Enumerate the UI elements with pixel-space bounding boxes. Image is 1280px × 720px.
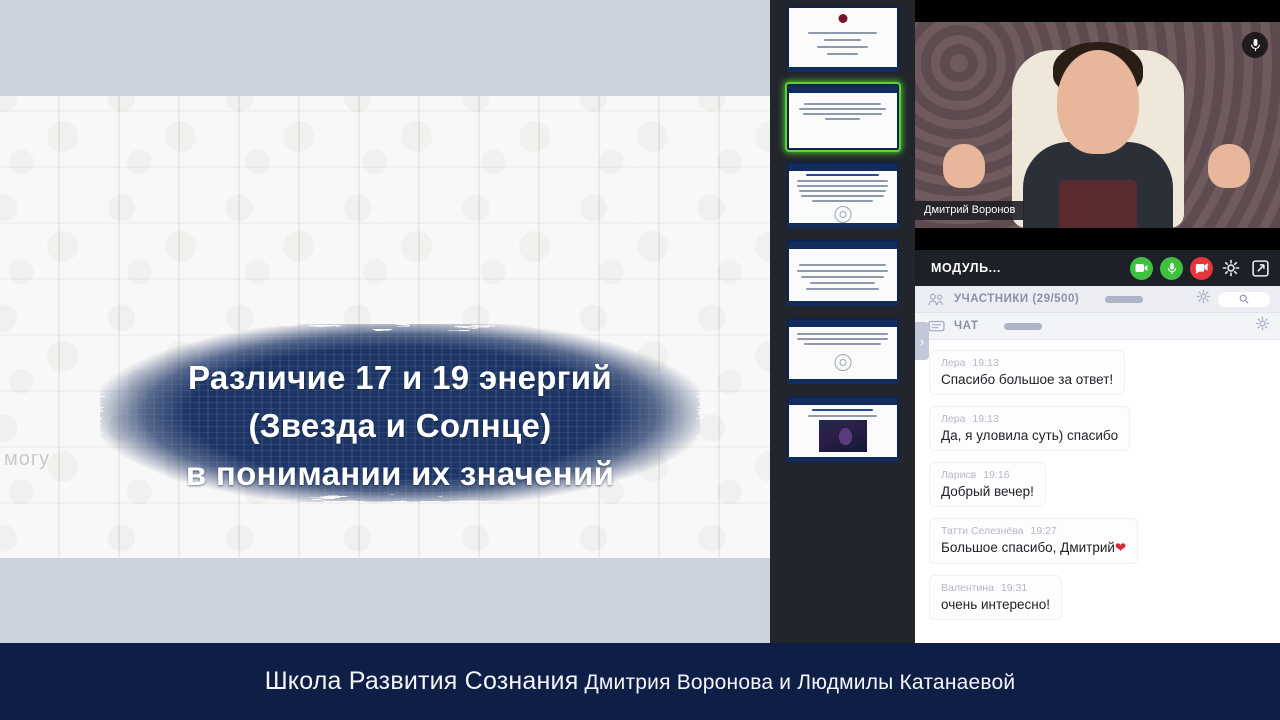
message-text: Да, я уловила суть) спасибо (941, 428, 1118, 443)
slide-thumbnail-strip[interactable] (770, 0, 915, 643)
message-time: 19:13 (972, 357, 998, 369)
message-text: Спасибо большое за ответ! (941, 372, 1113, 387)
message-time: 19:16 (983, 469, 1009, 481)
screenshare-toggle-button[interactable] (1190, 257, 1213, 280)
screen-root: могу Различие 17 и 19 энергий (Звезда и … (0, 0, 1280, 720)
chat-message: Лера19:13 Спасибо большое за ответ! (929, 350, 1125, 395)
slide-letterbox-top (0, 0, 770, 96)
slide-title: Различие 17 и 19 энергий (Звезда и Солнц… (60, 354, 740, 498)
footer-text: Школа Развития Сознания Дмитрия Воронова… (265, 667, 1016, 696)
microphone-toggle-button[interactable] (1160, 257, 1183, 280)
chat-message-list[interactable]: Лера19:13 Спасибо большое за ответ! Лера… (915, 340, 1280, 643)
conference-toolbar: МОДУЛЬ... (915, 250, 1280, 286)
panel-collapse-button[interactable]: › (915, 322, 929, 360)
slide-thumbnail-2[interactable] (787, 84, 899, 150)
slide-thumbnail-5[interactable] (787, 318, 899, 384)
camera-toggle-button[interactable] (1130, 257, 1153, 280)
speaker-hand-left (943, 144, 985, 188)
module-title: МОДУЛЬ... (931, 261, 1130, 275)
slide-photo-thumbnail (819, 420, 867, 452)
chat-panel: УЧАСТНИКИ (29/500) ЧАТ (915, 286, 1280, 643)
slide-title-line-1: Различие 17 и 19 энергий (60, 354, 740, 402)
footer-banner: Школа Развития Сознания Дмитрия Воронова… (0, 643, 1280, 720)
message-author: Татти Селезнёва (941, 525, 1024, 537)
chat-message: Татти Селезнёва19:27 Большое спасибо, Дм… (929, 518, 1138, 564)
fullscreen-button[interactable] (1249, 257, 1271, 279)
slide-title-line-2: (Звезда и Солнце) (60, 402, 740, 450)
tshirt-print (1059, 180, 1137, 228)
chat-drag-pill[interactable] (1004, 323, 1042, 330)
chat-label: ЧАТ (954, 320, 978, 332)
message-text: очень интересно! (941, 597, 1050, 612)
participants-gear-icon[interactable] (1196, 289, 1211, 309)
slide-thumbnail-3[interactable] (787, 162, 899, 228)
heart-icon: ❤ (1115, 540, 1126, 555)
chat-message: Ларисв19:16 Добрый вечер! (929, 462, 1046, 507)
slide-canvas: могу Различие 17 и 19 энергий (Звезда и … (0, 96, 770, 558)
slide-letterbox-bottom (0, 558, 770, 643)
slide-thumbnail-1[interactable] (787, 6, 899, 72)
message-author: Ларисв (941, 469, 976, 481)
message-time: 19:27 (1031, 525, 1057, 537)
message-time: 19:13 (972, 413, 998, 425)
message-body: Большое спасибо, Дмитрий (941, 540, 1115, 555)
sun-emblem-icon (834, 206, 851, 223)
message-time: 19:31 (1001, 582, 1027, 594)
chat-gear-icon[interactable] (1255, 316, 1270, 336)
people-icon (928, 293, 945, 306)
speaker-head (1057, 50, 1139, 154)
message-text: Добрый вечер! (941, 484, 1034, 499)
message-author: Лера (941, 413, 965, 425)
slide-title-line-3: в понимании их значений (60, 450, 740, 498)
chat-row[interactable]: ЧАТ (915, 313, 1280, 340)
video-frame: Дмитрий Воронов (915, 22, 1280, 228)
slide-thumbnail-4[interactable] (787, 240, 899, 306)
chat-message: Лера19:13 Да, я уловила суть) спасибо (929, 406, 1130, 451)
message-text: Большое спасибо, Дмитрий❤ (941, 540, 1126, 556)
matrix-logo-icon (838, 14, 847, 23)
slide-thumbnail-6[interactable] (787, 396, 899, 462)
speaker-name-tag: Дмитрий Воронов (915, 201, 1024, 220)
speaker-video-panel[interactable]: Дмитрий Воронов (915, 0, 1280, 250)
participants-row[interactable]: УЧАСТНИКИ (29/500) (915, 286, 1280, 313)
microphone-icon (1242, 32, 1268, 58)
message-author: Лера (941, 357, 965, 369)
chat-message: Валентина19:31 очень интересно! (929, 575, 1062, 620)
speaker-hand-right (1208, 144, 1250, 188)
participants-drag-pill[interactable] (1105, 296, 1143, 303)
sun-emblem-icon (834, 354, 851, 371)
presentation-slide-stage[interactable]: могу Различие 17 и 19 энергий (Звезда и … (0, 0, 770, 643)
message-author: Валентина (941, 582, 994, 594)
slide-watermark-word: могу (4, 448, 50, 471)
chat-icon (928, 320, 945, 333)
footer-school-name: Школа Развития Сознания (265, 667, 579, 695)
settings-button[interactable] (1220, 257, 1242, 279)
footer-authors: Дмитрия Воронова и Людмилы Катанаевой (578, 671, 1015, 694)
participants-label: УЧАСТНИКИ (29/500) (954, 293, 1079, 305)
search-input[interactable] (1218, 292, 1270, 307)
